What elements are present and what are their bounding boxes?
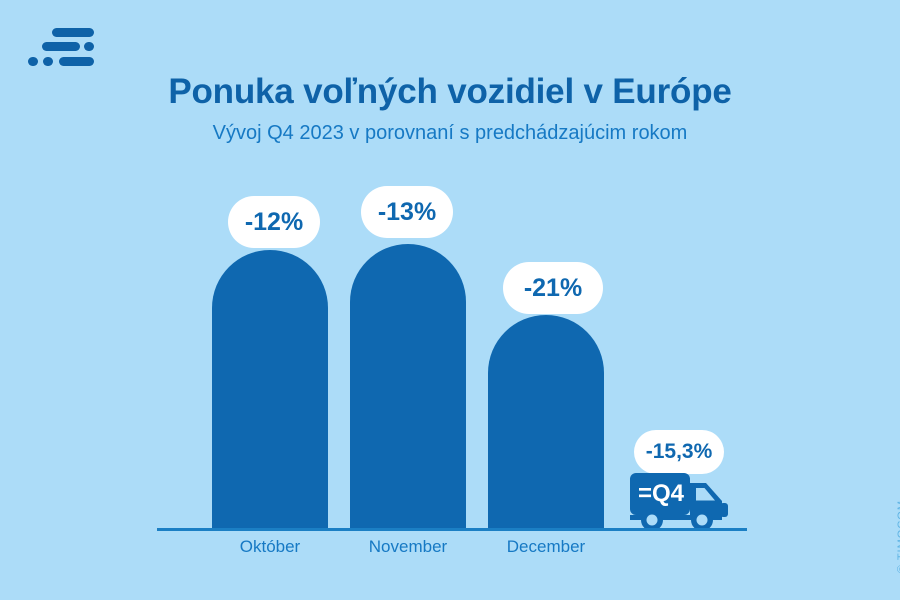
value-badge-november: -13% [361,186,453,238]
axis-label-december: December [461,537,631,557]
truck-quarter-label: =Q4 [638,480,685,507]
value-badge-december: -21% [503,262,603,314]
bar-chart: -12% -13% -21% -15,3% =Q4 Október Novemb… [0,0,900,600]
bar-december [488,315,604,528]
delivery-truck-icon: =Q4 [630,473,728,531]
chart-baseline [157,528,747,531]
bar-oktober [212,250,328,528]
copyright-notice: © TIMOCOM [896,500,900,573]
infographic-canvas: Ponuka voľných vozidiel v Európe Vývoj Q… [0,0,900,600]
value-badge-oktober: -12% [228,196,320,248]
value-badge-quarter: -15,3% [634,430,724,474]
bar-november [350,244,466,528]
